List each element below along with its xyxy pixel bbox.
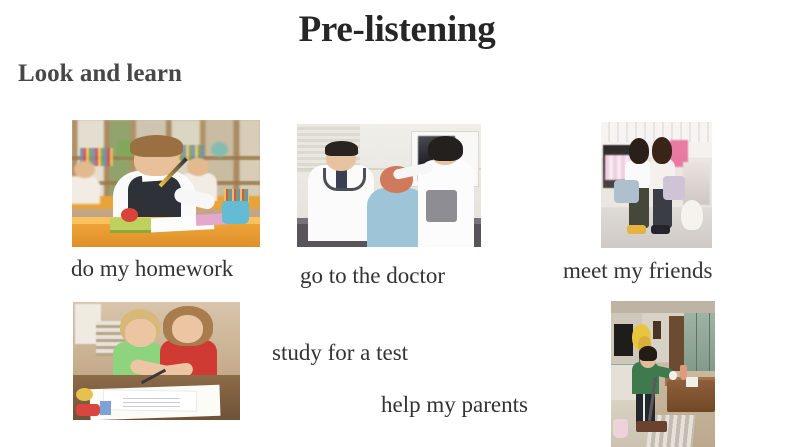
television bbox=[614, 324, 633, 356]
friend-left-shoes bbox=[627, 225, 647, 234]
worksheet-lines bbox=[123, 398, 180, 407]
apple bbox=[121, 208, 138, 222]
mop-head bbox=[636, 421, 667, 433]
doctor-scene bbox=[297, 124, 481, 247]
girl-red-head bbox=[172, 315, 204, 343]
child-hand bbox=[669, 371, 676, 380]
page-title: Pre-listening bbox=[0, 8, 794, 51]
table-items bbox=[686, 377, 698, 387]
image-help-my-parents bbox=[611, 301, 715, 447]
friend-right-shoes bbox=[651, 225, 670, 234]
shopping-bag bbox=[663, 176, 685, 200]
parents-scene bbox=[611, 301, 715, 447]
homework-scene bbox=[72, 120, 260, 247]
glass-door-frame bbox=[684, 313, 715, 380]
clipboard bbox=[426, 190, 457, 222]
image-study-for-a-test bbox=[73, 302, 240, 420]
nurse-hair bbox=[428, 136, 463, 161]
shopping-bag bbox=[614, 180, 638, 203]
image-meet-my-friends bbox=[601, 122, 712, 248]
caption-do-my-homework: do my homework bbox=[71, 256, 233, 282]
bucket bbox=[613, 419, 628, 438]
red-item bbox=[76, 404, 99, 417]
study-scene bbox=[73, 302, 240, 420]
boy-hair bbox=[130, 135, 183, 157]
child-hair bbox=[639, 346, 657, 361]
image-do-my-homework bbox=[72, 120, 260, 247]
caption-study-for-a-test: study for a test bbox=[272, 340, 408, 366]
pencil-cup bbox=[222, 201, 248, 224]
classmate-head bbox=[74, 161, 95, 179]
girl-green-head bbox=[125, 319, 157, 347]
vase bbox=[680, 365, 687, 380]
caption-go-to-the-doctor: go to the doctor bbox=[300, 263, 445, 289]
classmate-body bbox=[72, 176, 100, 204]
slide-canvas: Pre-listening Look and learn bbox=[0, 0, 794, 447]
shelf-object bbox=[211, 142, 228, 157]
wall-picture bbox=[653, 321, 661, 339]
friends-scene bbox=[601, 122, 712, 248]
friend-right-hair bbox=[652, 137, 672, 163]
section-heading: Look and learn bbox=[18, 60, 182, 88]
display-rack bbox=[683, 162, 710, 205]
stethoscope-icon bbox=[323, 168, 366, 191]
patient-shirt bbox=[367, 188, 426, 247]
blue-item bbox=[100, 401, 112, 415]
friend-left-hair bbox=[629, 138, 649, 163]
image-go-to-the-doctor bbox=[297, 124, 481, 247]
caption-meet-my-friends: meet my friends bbox=[563, 258, 712, 284]
doctor-hair bbox=[325, 141, 358, 156]
caption-help-my-parents: help my parents bbox=[381, 392, 528, 418]
classmate-head bbox=[187, 158, 210, 176]
plush-toy bbox=[681, 200, 703, 230]
ceiling bbox=[611, 301, 715, 313]
